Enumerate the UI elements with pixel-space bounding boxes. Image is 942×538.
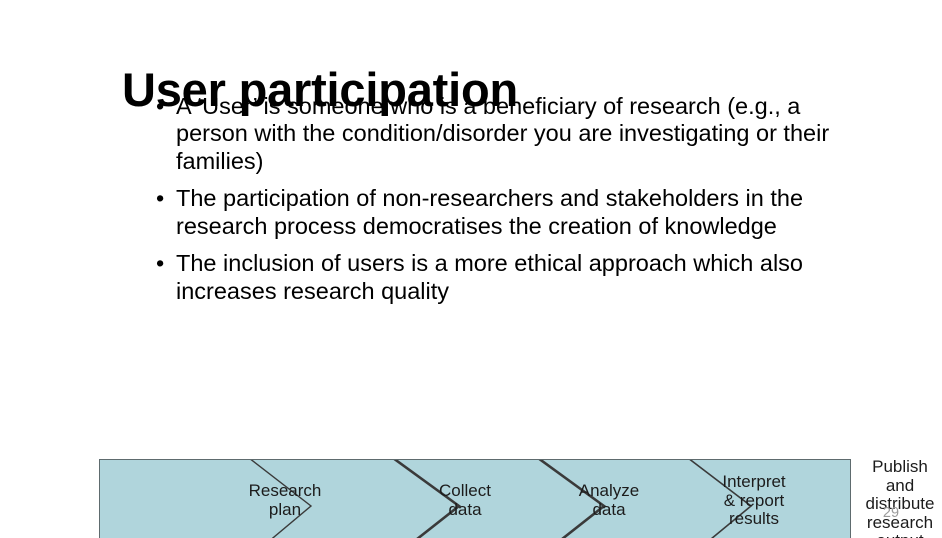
bullet-point-icon: • — [156, 250, 164, 277]
process-stage-label: Collectdata — [439, 481, 491, 519]
list-item: • A ‘User’ is someone who is a beneficia… — [155, 93, 835, 175]
bullet-text: The inclusion of users is a more ethical… — [176, 250, 835, 305]
process-stage-publish-distribute-research-output: Publishanddistributeresearchoutput — [845, 458, 942, 538]
list-item: • The participation of non-researchers a… — [155, 185, 835, 240]
process-flow-diagram: Researchplan Collectdata Analyzedata Int… — [99, 459, 851, 538]
process-stage-label: Analyzedata — [579, 481, 639, 519]
slide-canvas: User participation • A ‘User’ is someone… — [0, 0, 942, 538]
bullet-list: • A ‘User’ is someone who is a beneficia… — [155, 93, 835, 316]
process-stage-analyze-data: Analyzedata — [553, 482, 665, 519]
process-stage-label: Publishanddistributeresearchoutput — [866, 457, 935, 538]
process-stage-interpret-report-results: Interpret& reportresults — [695, 473, 813, 529]
process-stage-collect-data: Collectdata — [410, 482, 520, 519]
bullet-point-icon: • — [156, 185, 164, 212]
bullet-text: The participation of non-researchers and… — [176, 185, 835, 240]
process-stage-label: Interpret& reportresults — [722, 472, 785, 528]
bullet-text: A ‘User’ is someone who is a beneficiary… — [176, 93, 835, 175]
list-item: • The inclusion of users is a more ethic… — [155, 250, 835, 305]
page-number: 29 — [874, 505, 908, 521]
process-stage-research-plan: Researchplan — [220, 482, 350, 519]
bullet-point-icon: • — [156, 93, 164, 120]
process-stage-label: Researchplan — [249, 481, 322, 519]
